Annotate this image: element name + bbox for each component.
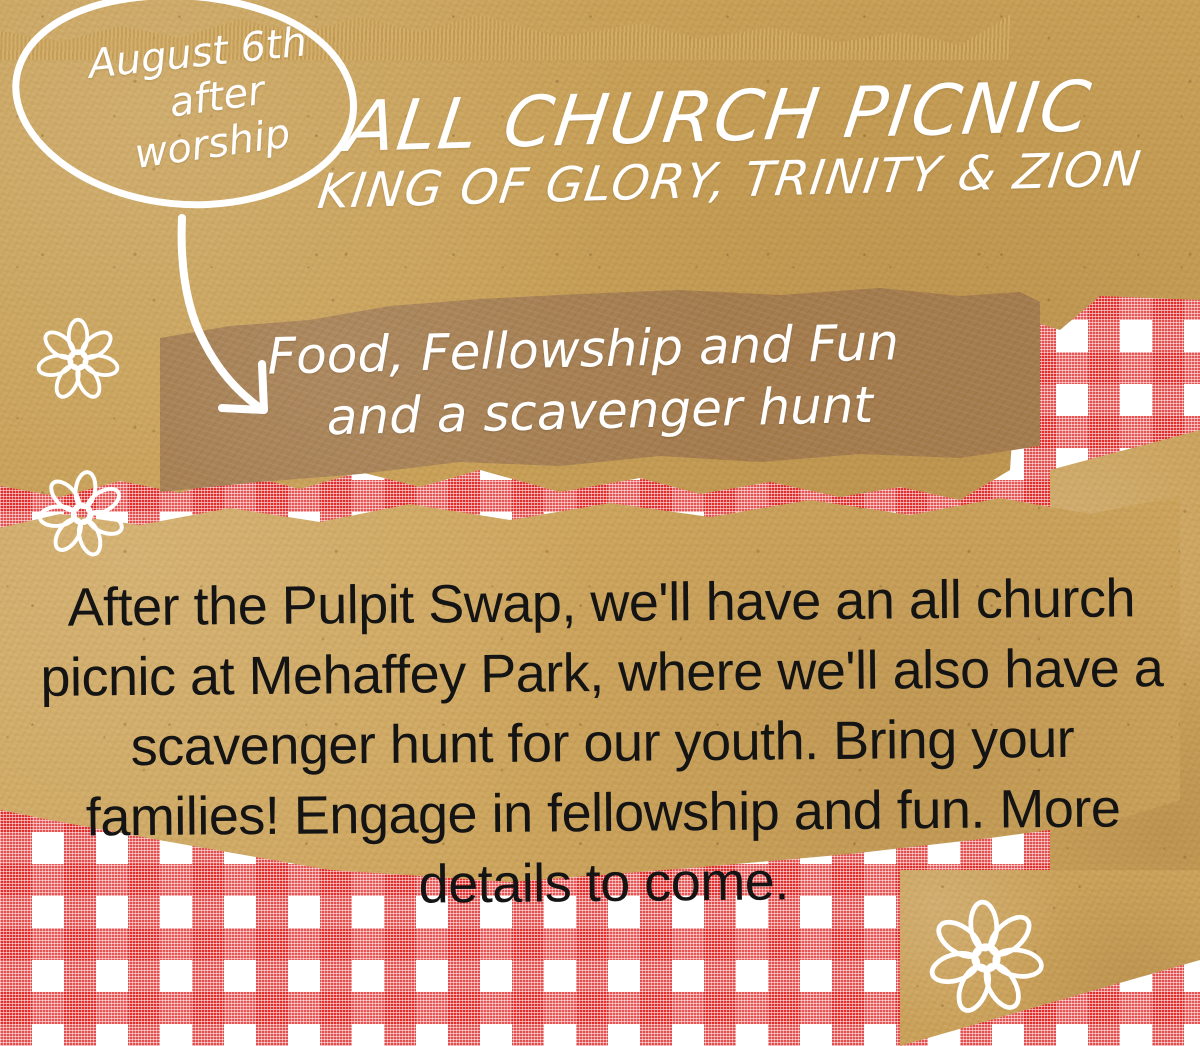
daisy-flower-mid-left-icon bbox=[38, 470, 126, 558]
title-block: ALL CHURCH PICNIC KING OF GLORY, TRINITY… bbox=[352, 92, 1200, 220]
subheading: Food, Fellowship and Fun and a scavenger… bbox=[267, 309, 1030, 448]
daisy-flower-top-left-icon bbox=[36, 318, 120, 402]
daisy-flower-bottom-right-icon bbox=[930, 902, 1042, 1014]
picnic-flyer: August 6th after worship ALL CHURCH PICN… bbox=[0, 0, 1200, 1046]
body-paragraph: After the Pulpit Swap, we'll have an all… bbox=[38, 563, 1166, 923]
